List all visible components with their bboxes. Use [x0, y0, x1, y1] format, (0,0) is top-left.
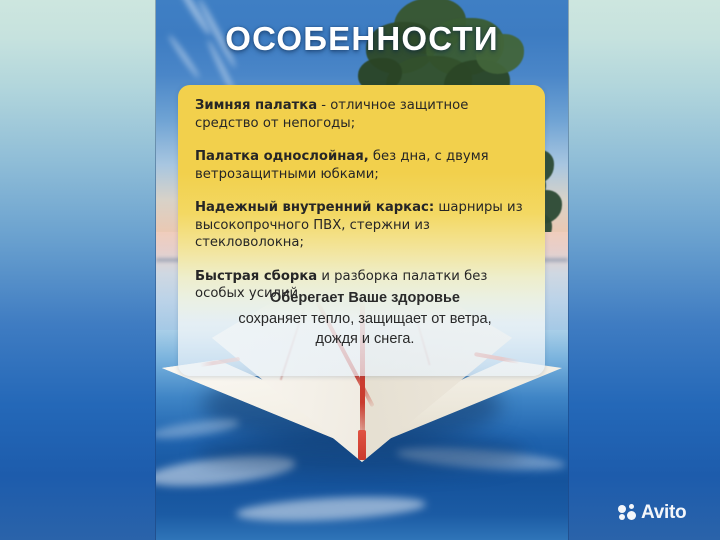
features-list: Зимняя палатка - отличное защитное средс…: [195, 97, 535, 303]
avito-dot: [629, 504, 634, 509]
avito-dot: [627, 511, 636, 520]
left-gradient-filler: [0, 0, 156, 540]
listing-image-canvas: ОСОБЕННОСТИ Зимняя палатка - отличное за…: [0, 0, 720, 540]
tent-seam-foot: [358, 430, 366, 460]
avito-wordmark: Avito: [641, 503, 686, 522]
avito-logo-icon: [618, 504, 637, 521]
closing-line-2: сохраняет тепло, защищает от ветра,: [195, 309, 535, 329]
feature-lead: Палатка однослойная,: [195, 149, 369, 164]
features-panel: Зимняя палатка - отличное защитное средс…: [178, 85, 545, 376]
feature-lead: Быстрая сборка: [195, 269, 317, 284]
right-gradient-filler: [568, 0, 720, 540]
avito-dot: [618, 505, 626, 513]
closing-headline: Оберегает Ваше здоровье: [195, 288, 535, 308]
feature-lead: Надежный внутренний каркас:: [195, 200, 434, 215]
list-item: Зимняя палатка - отличное защитное средс…: [195, 97, 535, 132]
page-title: ОСОБЕННОСТИ: [156, 20, 568, 58]
closing-statement: Оберегает Ваше здоровье сохраняет тепло,…: [195, 288, 535, 349]
closing-line-3: дождя и снега.: [195, 329, 535, 349]
avito-dot: [619, 514, 625, 520]
feature-lead: Зимняя палатка: [195, 98, 317, 113]
avito-watermark: Avito: [618, 503, 686, 522]
list-item: Палатка однослойная, без дна, с двумя ве…: [195, 148, 535, 183]
list-item: Надежный внутренний каркас: шарниры из в…: [195, 199, 535, 252]
